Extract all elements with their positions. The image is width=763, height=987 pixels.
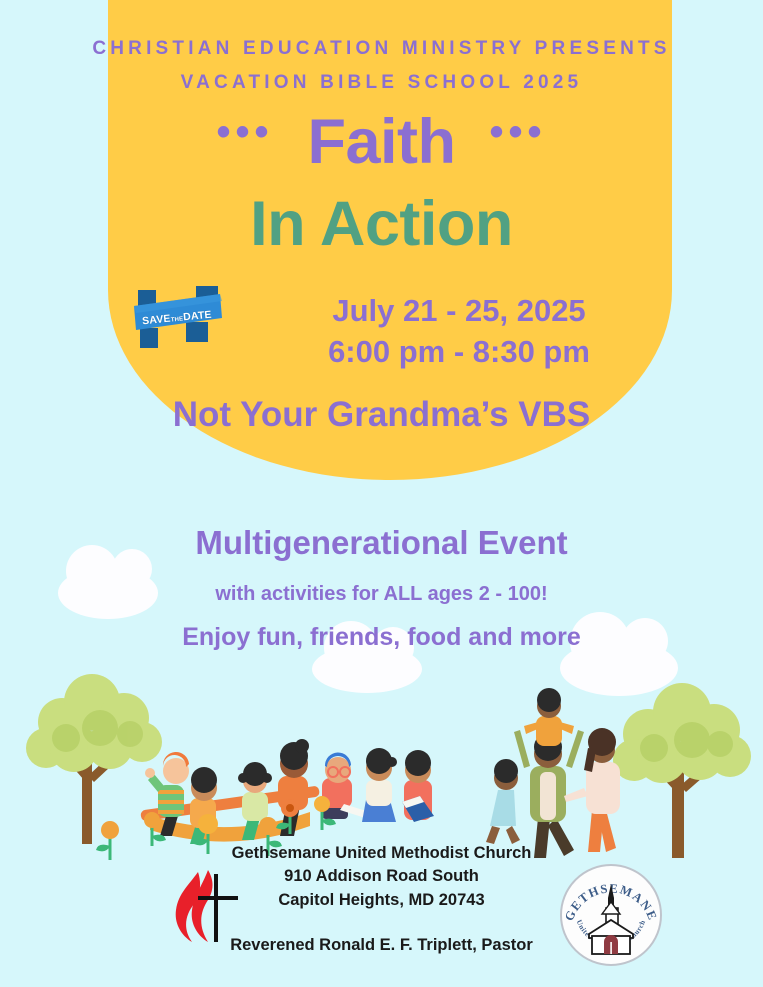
- event-tagline: Not Your Grandma’s VBS: [0, 395, 763, 435]
- dots-left: •••: [216, 110, 273, 154]
- event-times: 6:00 pm - 8:30 pm: [225, 331, 693, 372]
- family-group: [486, 688, 620, 858]
- pastor-name: Reverened Ronald E. F. Triplett, Pastor: [0, 936, 763, 955]
- family-child-running: [486, 759, 520, 844]
- event-dates: July 21 - 25, 2025: [225, 290, 693, 331]
- child-reading-center: [362, 748, 397, 822]
- church-city-state-zip: Capitol Heights, MD 20743: [0, 889, 763, 912]
- family-father-with-child: [514, 688, 584, 858]
- family-mother: [564, 728, 620, 852]
- title-faith-row: ••• Faith •••: [0, 111, 763, 174]
- illustration-scene: [0, 630, 763, 860]
- ribbon-icon: [126, 284, 228, 352]
- vbs-flyer: CHRISTIAN EDUCATION MINISTRY PRESENTS VA…: [0, 0, 763, 987]
- ministry-presents-line: CHRISTIAN EDUCATION MINISTRY PRESENTS: [0, 38, 763, 60]
- activities-line: Enjoy fun, friends, food and more: [0, 623, 763, 652]
- dots-right: •••: [490, 110, 547, 154]
- children-reading-group: [322, 748, 434, 822]
- audience-heading: Multigenerational Event: [0, 524, 763, 562]
- save-the-date-ribbon: SAVETHEDATE: [126, 284, 228, 352]
- audience-detail: with activities for ALL ages 2 - 100!: [0, 583, 763, 606]
- tree-left-icon: [26, 674, 162, 844]
- title-word-faith: Faith: [308, 107, 456, 177]
- church-street: 910 Addison Road South: [0, 865, 763, 888]
- title-in-action: In Action: [0, 193, 763, 256]
- child-reading-right: [402, 750, 434, 822]
- scene-svg: [0, 630, 763, 860]
- children-seesaw-group: [140, 739, 320, 844]
- church-address-block: Gethsemane United Methodist Church 910 A…: [0, 842, 763, 912]
- tree-right-icon: [613, 683, 751, 858]
- church-name: Gethsemane United Methodist Church: [0, 842, 763, 865]
- vbs-year-line: VACATION BIBLE SCHOOL 2025: [0, 72, 763, 94]
- event-datetime: July 21 - 25, 2025 6:00 pm - 8:30 pm: [225, 290, 693, 372]
